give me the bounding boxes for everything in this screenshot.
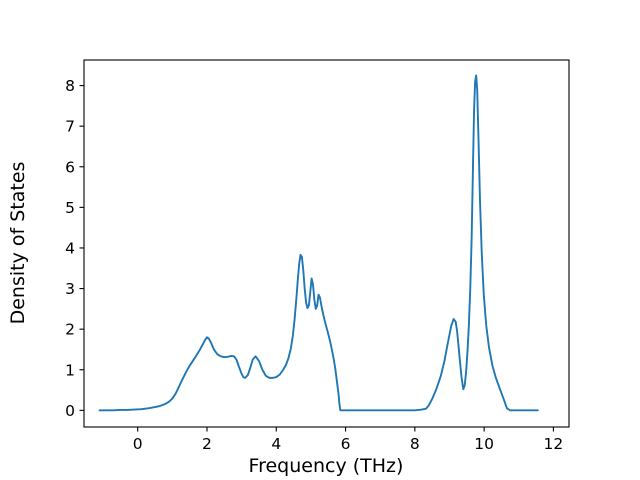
y-tick-label: 1: [65, 361, 75, 379]
y-tick-label: 8: [65, 77, 75, 95]
plot-canvas: 024681012 012345678 Frequency (THz) Dens…: [0, 0, 640, 480]
x-tick-label: 2: [202, 435, 212, 453]
y-tick-label: 6: [65, 158, 75, 176]
x-tick-label: 8: [410, 435, 420, 453]
y-axis-label: Density of States: [7, 162, 29, 325]
phonon-dos-figure: 024681012 012345678 Frequency (THz) Dens…: [0, 0, 640, 480]
x-tick-label: 6: [341, 435, 351, 453]
x-tick-group: 024681012: [133, 427, 564, 453]
y-tick-label: 0: [65, 402, 75, 420]
y-tick-group: 012345678: [65, 77, 84, 420]
x-tick-label: 0: [133, 435, 143, 453]
y-tick-label: 5: [65, 199, 75, 217]
y-tick-label: 2: [65, 321, 75, 339]
x-tick-label: 10: [474, 435, 494, 453]
y-tick-label: 7: [65, 118, 75, 136]
x-tick-label: 4: [271, 435, 281, 453]
y-tick-label: 3: [65, 280, 75, 298]
x-tick-label: 12: [544, 435, 564, 453]
plot-area-background: [84, 60, 569, 427]
y-tick-label: 4: [65, 239, 75, 257]
x-axis-label: Frequency (THz): [249, 455, 404, 477]
